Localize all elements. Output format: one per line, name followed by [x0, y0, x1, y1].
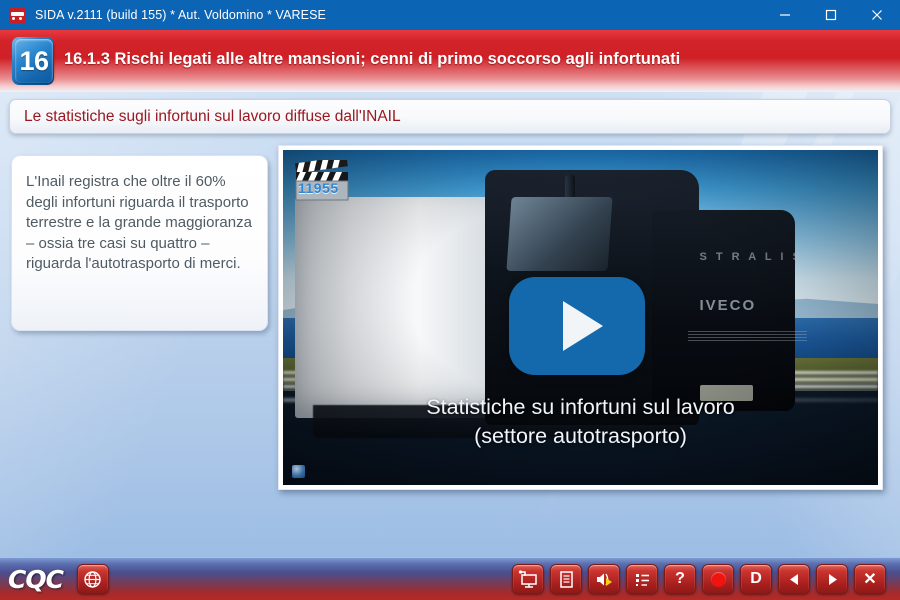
page-header: 16 16.1.3 Rischi legati alle altre mansi…	[0, 30, 900, 92]
exit-button[interactable]: ✕	[854, 564, 886, 594]
index-button[interactable]	[626, 564, 658, 594]
presentation-button[interactable]	[512, 564, 544, 594]
minimize-icon[interactable]	[762, 0, 808, 30]
truck-icon	[9, 8, 26, 23]
application-window: SIDA v.2111 (build 155) * Aut. Voldomino…	[0, 0, 900, 600]
subtitle-bar: Le statistiche sugli infortuni sul lavor…	[9, 99, 891, 134]
record-button[interactable]	[702, 564, 734, 594]
previous-button[interactable]	[778, 564, 810, 594]
maximize-icon[interactable]	[808, 0, 854, 30]
cqc-logo: CQC	[8, 567, 63, 592]
video-clip-id: 11955	[298, 180, 350, 196]
info-text-panel: L'Inail registra che oltre il 60% degli …	[11, 155, 268, 331]
chapter-badge: 16	[8, 34, 58, 88]
page-title: 16.1.3 Rischi legati alle altre mansioni…	[64, 50, 890, 69]
help-button[interactable]: ?	[664, 564, 696, 594]
subtitle-text: Le statistiche sugli infortuni sul lavor…	[24, 108, 401, 126]
video-caption-line2: (settore autotrasporto)	[283, 422, 878, 451]
audio-button[interactable]	[588, 564, 620, 594]
play-triangle	[563, 301, 603, 351]
video-thumbnail[interactable]: S T R A L I S IVECO	[283, 150, 878, 485]
next-button[interactable]	[816, 564, 848, 594]
video-caption: Statistiche su infortuni sul lavoro (set…	[283, 393, 878, 451]
info-text: L'Inail registra che oltre il 60% degli …	[26, 172, 254, 275]
chapter-number: 16	[19, 48, 48, 75]
publisher-logo-icon	[292, 465, 305, 478]
document-button[interactable]	[550, 564, 582, 594]
close-icon[interactable]	[854, 0, 900, 30]
video-caption-line1: Statistiche su infortuni sul lavoro	[283, 393, 878, 422]
play-icon[interactable]	[509, 277, 645, 375]
record-dot-icon	[711, 572, 726, 587]
window-title: SIDA v.2111 (build 155) * Aut. Voldomino…	[35, 8, 326, 22]
dictionary-button[interactable]: D	[740, 564, 772, 594]
bottom-toolbar: CQC	[0, 557, 900, 600]
clapperboard-icon: 11955	[292, 160, 354, 204]
globe-button[interactable]	[77, 564, 109, 594]
chapter-badge-face: 16	[15, 39, 53, 83]
title-bar: SIDA v.2111 (build 155) * Aut. Voldomino…	[0, 0, 900, 30]
toolbar-button-group: ? D ✕	[512, 564, 892, 594]
video-card[interactable]: S T R A L I S IVECO	[278, 145, 883, 490]
